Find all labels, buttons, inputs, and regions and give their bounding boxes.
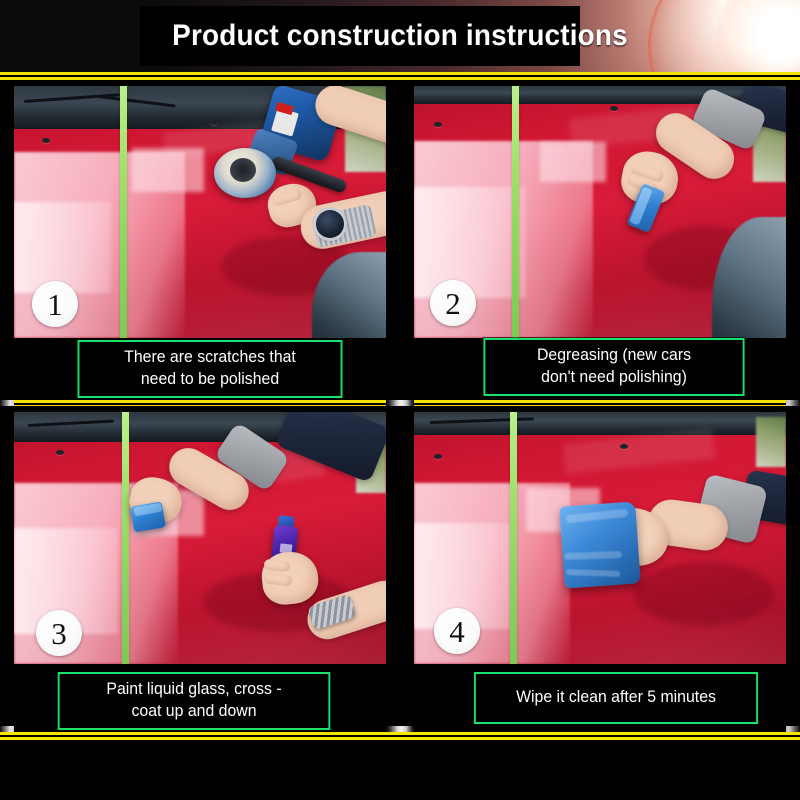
step-number: 2 <box>445 288 461 319</box>
step-caption-2: Degreasing (new cars don't need polishin… <box>483 338 744 396</box>
steps-grid: 1 <box>0 80 800 732</box>
step-badge-2: 2 <box>430 280 476 326</box>
caption-line: Paint liquid glass, cross - <box>99 679 290 701</box>
dull-scratched-area-core <box>14 202 111 293</box>
caption-line: don't need polishing) <box>529 367 698 389</box>
step-number: 4 <box>449 616 465 647</box>
caption-line: Wipe it clean after 5 minutes <box>508 687 723 709</box>
step-badge-3: 3 <box>36 610 82 656</box>
polishing-pad-hub <box>230 158 256 182</box>
paint-shadow <box>634 562 774 626</box>
step-number: 3 <box>51 618 67 649</box>
step-badge-1: 1 <box>32 281 78 327</box>
green-masking-tape <box>510 412 517 664</box>
divider-top <box>0 72 800 80</box>
step-badge-4: 4 <box>434 608 480 654</box>
green-masking-tape <box>512 86 519 338</box>
step-caption-4: Wipe it clean after 5 minutes <box>474 672 758 724</box>
dull-scratched-area-core <box>414 187 526 298</box>
step-photo-4: 4 <box>414 412 786 664</box>
caption-line: There are scratches that <box>116 347 303 369</box>
page-title: Product construction instructions <box>28 0 772 72</box>
poster-header: Product construction instructions <box>0 0 800 72</box>
green-masking-tape <box>122 412 129 664</box>
step-caption-1: There are scratches that need to be poli… <box>78 340 343 398</box>
background-greenery <box>756 417 786 467</box>
windshield-cowl <box>414 412 786 435</box>
step-caption-3: Paint liquid glass, cross - coat up and … <box>58 672 331 730</box>
green-masking-tape <box>120 86 127 338</box>
caption-line: Degreasing (new cars <box>529 345 698 367</box>
wristwatch <box>316 210 344 238</box>
hood-fixing-dot <box>434 454 442 459</box>
hood-fixing-dot <box>434 122 442 127</box>
instruction-poster: Product construction instructions <box>0 0 800 800</box>
hood-fixing-dot <box>620 444 628 449</box>
divider-bottom <box>0 732 800 740</box>
step-photo-3: 3 <box>14 412 386 664</box>
caption-line: need to be polished <box>116 369 303 391</box>
hood-fixing-dot <box>610 106 618 111</box>
step-number: 1 <box>47 289 63 320</box>
hood-fixing-dot <box>42 138 50 143</box>
step-photo-2: 2 <box>414 86 786 338</box>
caption-line: coat up and down <box>99 701 290 723</box>
step-photo-1: 1 <box>14 86 386 338</box>
hood-fixing-dot <box>210 120 218 125</box>
hood-fixing-dot <box>56 450 64 455</box>
